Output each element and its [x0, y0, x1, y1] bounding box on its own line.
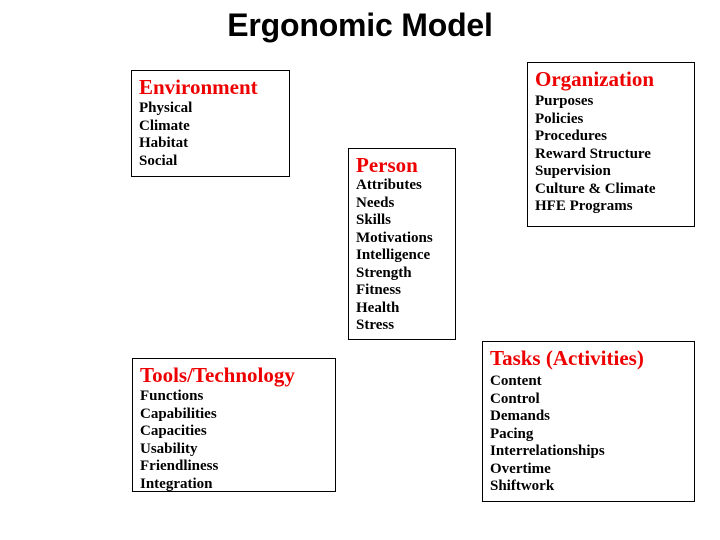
- list-item: Shiftwork: [490, 478, 694, 496]
- box-person: Person Attributes Needs Skills Motivatio…: [348, 148, 456, 340]
- list-item: Intelligence: [356, 247, 455, 265]
- box-tools-technology: Tools/Technology Functions Capabilities …: [132, 358, 336, 492]
- list-item: Capabilities: [140, 406, 335, 424]
- box-tasks-activities-header: Tasks (Activities): [490, 346, 694, 370]
- list-item: Overtime: [490, 461, 694, 479]
- list-item: Usability: [140, 441, 335, 459]
- page-title: Ergonomic Model: [0, 6, 720, 44]
- list-item: Interrelationships: [490, 443, 694, 461]
- list-item: Skills: [356, 212, 455, 230]
- box-environment-list: Physical Climate Habitat Social: [139, 100, 289, 170]
- list-item: Physical: [139, 100, 289, 118]
- list-item: Fitness: [356, 282, 455, 300]
- box-environment: Environment Physical Climate Habitat Soc…: [131, 70, 290, 177]
- list-item: Purposes: [535, 93, 694, 111]
- list-item: HFE Programs: [535, 198, 694, 216]
- list-item: Reward Structure: [535, 146, 694, 164]
- box-person-list: Attributes Needs Skills Motivations Inte…: [356, 177, 455, 335]
- box-tasks-activities-list: Content Control Demands Pacing Interrela…: [490, 373, 694, 496]
- list-item: Friendliness: [140, 458, 335, 476]
- list-item: Demands: [490, 408, 694, 426]
- diagram-canvas: Ergonomic Model Environment Physical Cli…: [0, 0, 720, 540]
- list-item: Integration: [140, 476, 335, 493]
- list-item: Pacing: [490, 426, 694, 444]
- list-item: Policies: [535, 111, 694, 129]
- box-organization-header: Organization: [535, 67, 694, 91]
- list-item: Social: [139, 153, 289, 171]
- list-item: Control: [490, 391, 694, 409]
- list-item: Attributes: [356, 177, 455, 195]
- list-item: Strength: [356, 265, 455, 283]
- box-organization: Organization Purposes Policies Procedure…: [527, 62, 695, 227]
- box-tools-technology-list: Functions Capabilities Capacities Usabil…: [140, 388, 335, 492]
- box-tools-technology-header: Tools/Technology: [140, 363, 335, 387]
- list-item: Health: [356, 300, 455, 318]
- list-item: Functions: [140, 388, 335, 406]
- list-item: Supervision: [535, 163, 694, 181]
- list-item: Culture & Climate: [535, 181, 694, 199]
- list-item: Capacities: [140, 423, 335, 441]
- list-item: Stress: [356, 317, 455, 335]
- list-item: Content: [490, 373, 694, 391]
- box-organization-list: Purposes Policies Procedures Reward Stru…: [535, 93, 694, 216]
- box-person-header: Person: [356, 153, 455, 177]
- box-tasks-activities: Tasks (Activities) Content Control Deman…: [482, 341, 695, 502]
- list-item: Habitat: [139, 135, 289, 153]
- list-item: Climate: [139, 118, 289, 136]
- box-environment-header: Environment: [139, 75, 289, 99]
- list-item: Motivations: [356, 230, 455, 248]
- list-item: Procedures: [535, 128, 694, 146]
- list-item: Needs: [356, 195, 455, 213]
